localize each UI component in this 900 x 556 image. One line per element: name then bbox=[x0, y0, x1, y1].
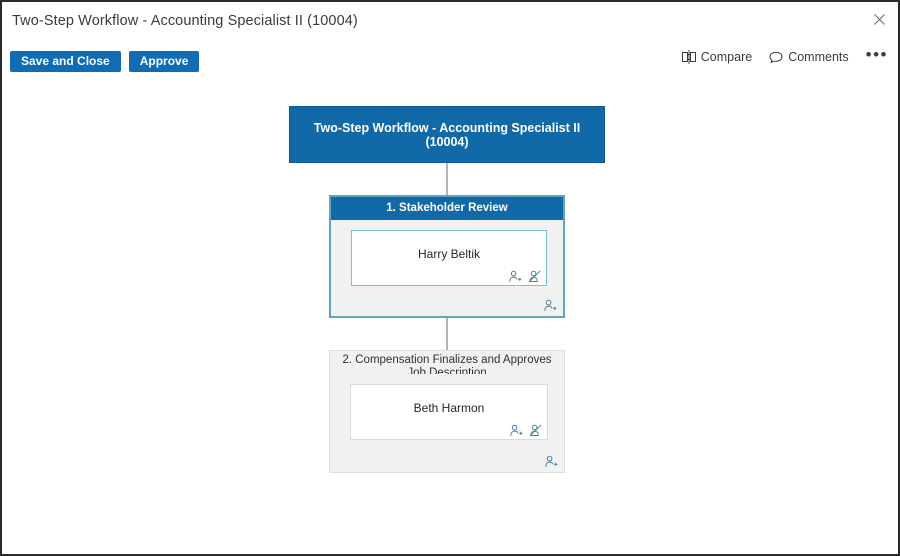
toolbar: Save and Close Approve Compare bbox=[2, 48, 898, 82]
title-bar: Two-Step Workflow - Accounting Specialis… bbox=[2, 2, 898, 40]
workflow-root-node[interactable]: Two-Step Workflow - Accounting Specialis… bbox=[289, 106, 605, 163]
assignee-box[interactable]: Harry Beltik bbox=[351, 230, 547, 286]
assignee-box[interactable]: Beth Harmon bbox=[350, 384, 548, 440]
add-person-icon[interactable] bbox=[544, 299, 557, 312]
workflow-step-card[interactable]: 2. Compensation Finalizes and Approves J… bbox=[329, 350, 565, 473]
compare-label: Compare bbox=[701, 50, 752, 64]
toolbar-actions-right: Compare Comments ••• bbox=[682, 50, 888, 64]
compare-icon bbox=[682, 50, 696, 64]
workflow-window: Two-Step Workflow - Accounting Specialis… bbox=[0, 0, 900, 556]
add-person-icon[interactable] bbox=[509, 270, 522, 283]
remove-person-icon[interactable] bbox=[529, 424, 542, 437]
assignee-name: Beth Harmon bbox=[351, 401, 547, 415]
add-person-icon[interactable] bbox=[510, 424, 523, 437]
add-person-icon[interactable] bbox=[545, 455, 558, 468]
toolbar-actions-left: Save and Close Approve bbox=[10, 51, 199, 72]
compare-button[interactable]: Compare bbox=[682, 50, 752, 64]
comments-button[interactable]: Comments bbox=[769, 50, 848, 64]
assignee-actions bbox=[509, 270, 541, 283]
connector-line bbox=[446, 163, 448, 195]
step-header-label: 2. Compensation Finalizes and Approves J… bbox=[330, 351, 564, 374]
close-icon[interactable] bbox=[868, 8, 890, 30]
comments-label: Comments bbox=[788, 50, 848, 64]
save-and-close-button[interactable]: Save and Close bbox=[10, 51, 121, 72]
approve-button[interactable]: Approve bbox=[129, 51, 200, 72]
remove-person-icon[interactable] bbox=[528, 270, 541, 283]
step-header-label: 1. Stakeholder Review bbox=[331, 197, 563, 220]
step-card-body: Beth Harmon bbox=[330, 374, 564, 472]
comment-bubble-icon bbox=[769, 51, 783, 64]
connector-line bbox=[446, 318, 448, 350]
page-title: Two-Step Workflow - Accounting Specialis… bbox=[12, 13, 358, 29]
workflow-canvas: Two-Step Workflow - Accounting Specialis… bbox=[2, 88, 898, 554]
assignee-actions bbox=[510, 424, 542, 437]
workflow-step-card[interactable]: 1. Stakeholder Review Harry Beltik bbox=[329, 195, 565, 318]
assignee-name: Harry Beltik bbox=[352, 247, 546, 261]
step-card-body: Harry Beltik bbox=[331, 220, 563, 316]
ellipsis-icon[interactable]: ••• bbox=[866, 50, 888, 64]
